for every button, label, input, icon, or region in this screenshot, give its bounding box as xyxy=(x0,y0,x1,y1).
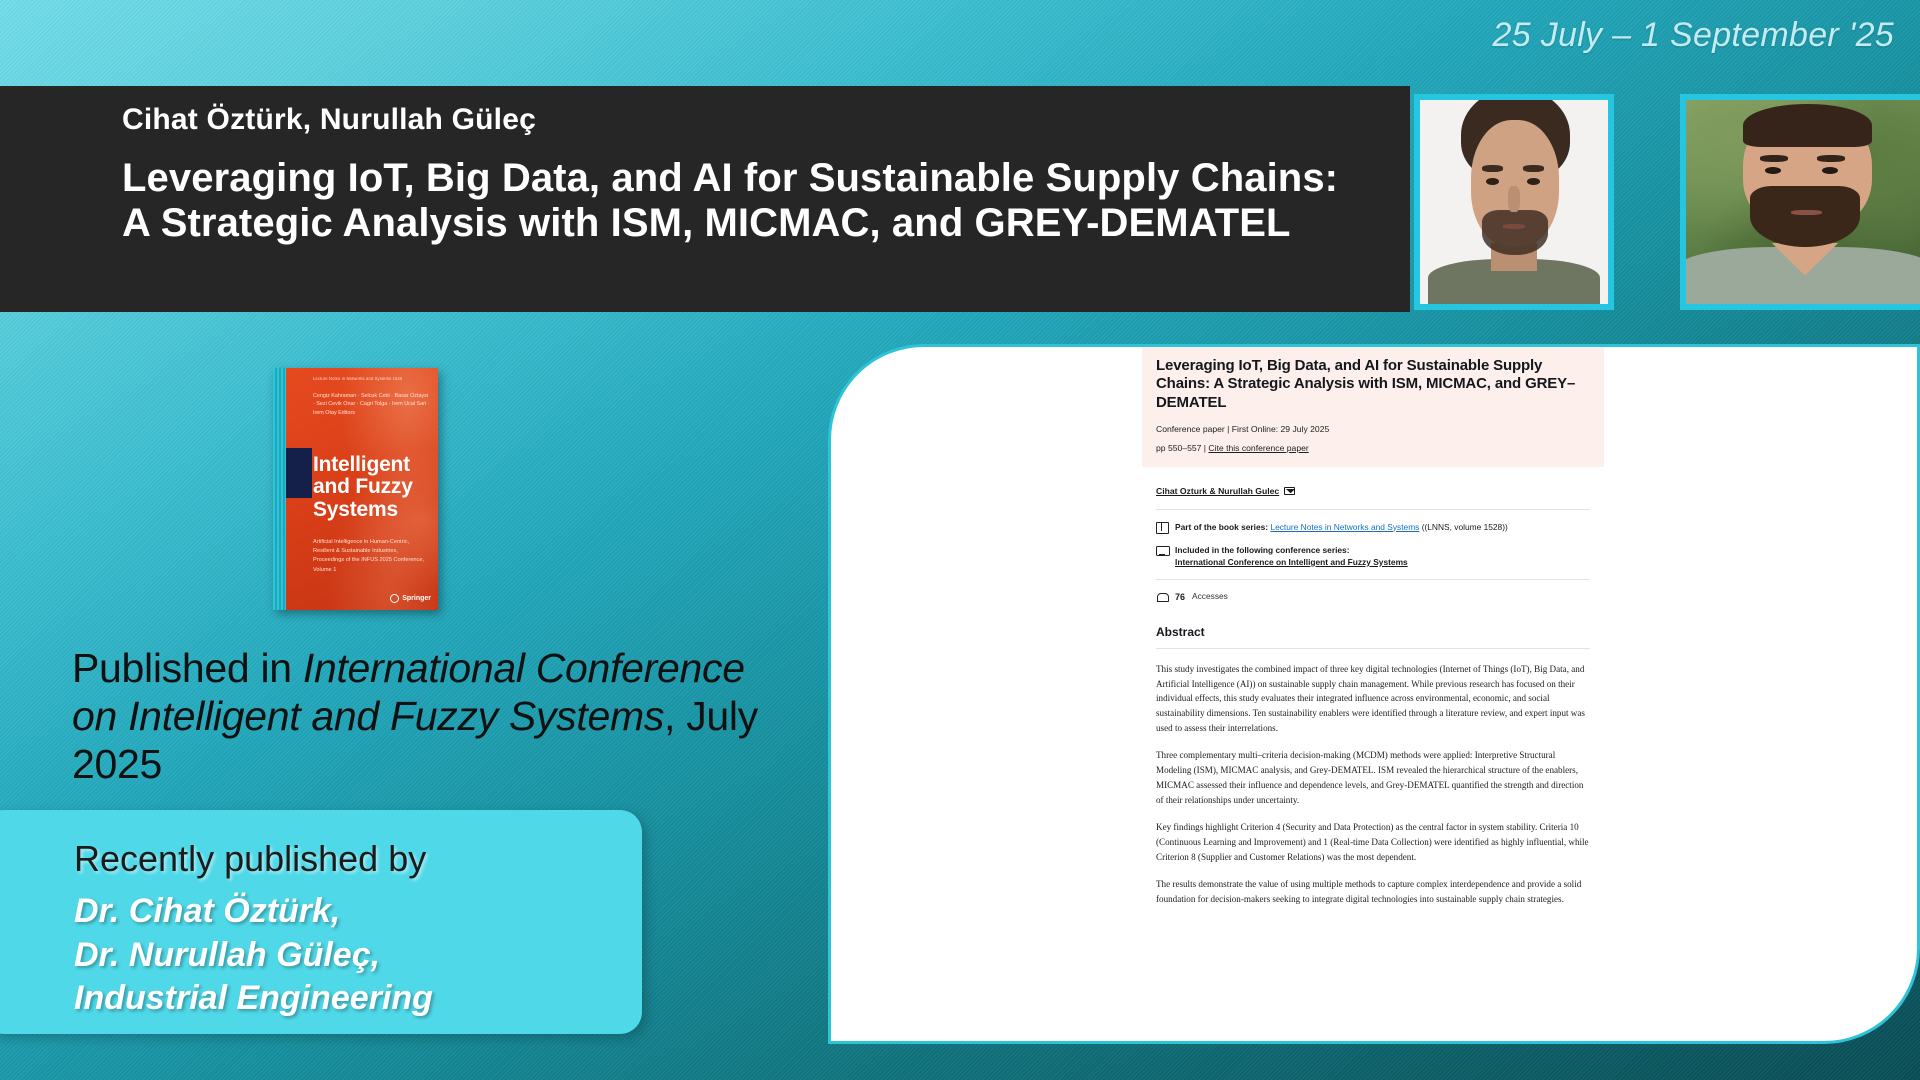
paper-screenshot-panel: Leveraging IoT, Big Data, and AI for Sus… xyxy=(828,344,1920,1044)
abstract-paragraph: This study investigates the combined imp… xyxy=(1156,662,1590,736)
author-photo-gulec xyxy=(1680,94,1920,310)
author-links[interactable]: Cihat Ozturk & Nurullah Gulec xyxy=(1156,485,1279,497)
avatar xyxy=(1420,100,1608,304)
published-in-prefix: Published in xyxy=(72,645,303,691)
chart-icon xyxy=(1156,592,1168,603)
abstract-heading: Abstract xyxy=(1156,624,1590,641)
article-hero: Leveraging IoT, Big Data, and AI for Sus… xyxy=(1142,344,1604,467)
article-pages: pp 550–557 xyxy=(1156,443,1201,453)
article-body: Cihat Ozturk & Nurullah Gulec Part of th… xyxy=(1142,485,1604,907)
avatar xyxy=(1686,100,1920,304)
publisher-name: Springer xyxy=(402,595,431,602)
accesses-metric: 76 Accesses xyxy=(1156,591,1590,604)
conference-series-row: Included in the following conference ser… xyxy=(1156,544,1590,568)
conference-series-label: Included in the following conference ser… xyxy=(1175,545,1350,555)
book-subtitle: Artificial Intelligence in Human-Centric… xyxy=(313,538,430,575)
title-banner: Cihat Öztürk, Nurullah Güleç Leveraging … xyxy=(0,86,1410,312)
springer-article-page: Leveraging IoT, Big Data, and AI for Sus… xyxy=(1142,344,1604,1044)
accesses-count: 76 xyxy=(1175,591,1185,604)
divider xyxy=(1156,648,1590,649)
book-editors: Cengiz Kahraman · Selcuk Cebi · Basar Oz… xyxy=(313,392,430,417)
springer-logo: Springer xyxy=(390,594,431,603)
book-cover-accent xyxy=(286,448,312,498)
article-title: Leveraging IoT, Big Data, and AI for Sus… xyxy=(1156,357,1590,412)
abstract-paragraph: Three complementary multi–criteria decis… xyxy=(1156,748,1590,807)
abstract-paragraph: Key findings highlight Criterion 4 (Secu… xyxy=(1156,820,1590,864)
page-title: Leveraging IoT, Big Data, and AI for Sus… xyxy=(122,156,1352,246)
slide-background: 25 July – 1 September '25 Cihat Öztürk, … xyxy=(0,0,1920,1080)
book-series-row: Part of the book series: Lecture Notes i… xyxy=(1156,521,1590,533)
accesses-label: Accesses xyxy=(1192,591,1228,603)
conference-series-link[interactable]: International Conference on Intelligent … xyxy=(1175,557,1408,567)
recently-published-label: Recently published by xyxy=(74,838,426,880)
book-series-line: Lecture Notes in Networks and Systems 15… xyxy=(313,377,432,382)
book-icon xyxy=(1156,522,1168,533)
book-series-link[interactable]: Lecture Notes in Networks and Systems xyxy=(1270,522,1419,532)
published-in-text: Published in International Conference on… xyxy=(72,645,762,789)
recently-published-names: Dr. Cihat Öztürk, Dr. Nurullah Güleç, In… xyxy=(74,890,433,1021)
article-type-line: Conference paper | First Online: 29 July… xyxy=(1156,423,1590,435)
book-spine xyxy=(273,368,286,610)
springer-mark-icon xyxy=(390,594,399,603)
divider xyxy=(1156,509,1590,510)
author-photo-ozturk xyxy=(1414,94,1614,310)
book-title: Intelligent and Fuzzy Systems xyxy=(313,454,432,521)
envelope-icon[interactable] xyxy=(1284,487,1295,495)
cite-conference-paper-link[interactable]: Cite this conference paper xyxy=(1208,443,1308,453)
date-range-label: 25 July – 1 September '25 xyxy=(1493,16,1894,55)
abstract-paragraph: The results demonstrate the value of usi… xyxy=(1156,877,1590,906)
book-cover-image: Lecture Notes in Networks and Systems 15… xyxy=(273,368,438,610)
recently-published-card: Recently published by Dr. Cihat Öztürk, … xyxy=(0,810,642,1034)
divider xyxy=(1156,579,1590,580)
article-pages-line: pp 550–557 | Cite this conference paper xyxy=(1156,442,1590,454)
authors-line: Cihat Öztürk, Nurullah Güleç xyxy=(122,102,1370,138)
book-series-volume: ((LNNS, volume 1528)) xyxy=(1422,522,1508,532)
screen-icon xyxy=(1156,545,1168,556)
article-authors: Cihat Ozturk & Nurullah Gulec xyxy=(1156,485,1590,497)
book-series-label: Part of the book series: xyxy=(1175,522,1268,532)
